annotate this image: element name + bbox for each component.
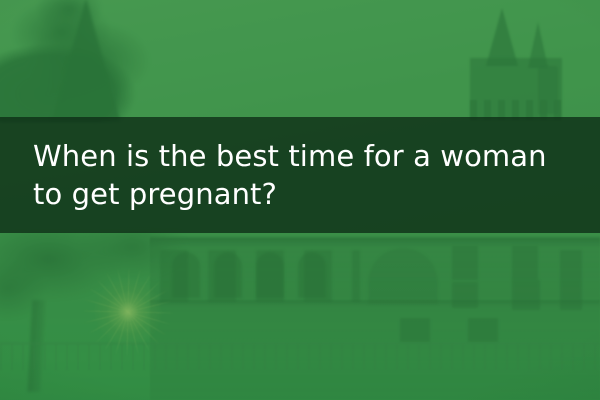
- headline-text: When is the best time for a woman to get…: [0, 137, 567, 213]
- caption-band: When is the best time for a woman to get…: [0, 117, 600, 233]
- thumbnail-card: When is the best time for a woman to get…: [0, 0, 600, 400]
